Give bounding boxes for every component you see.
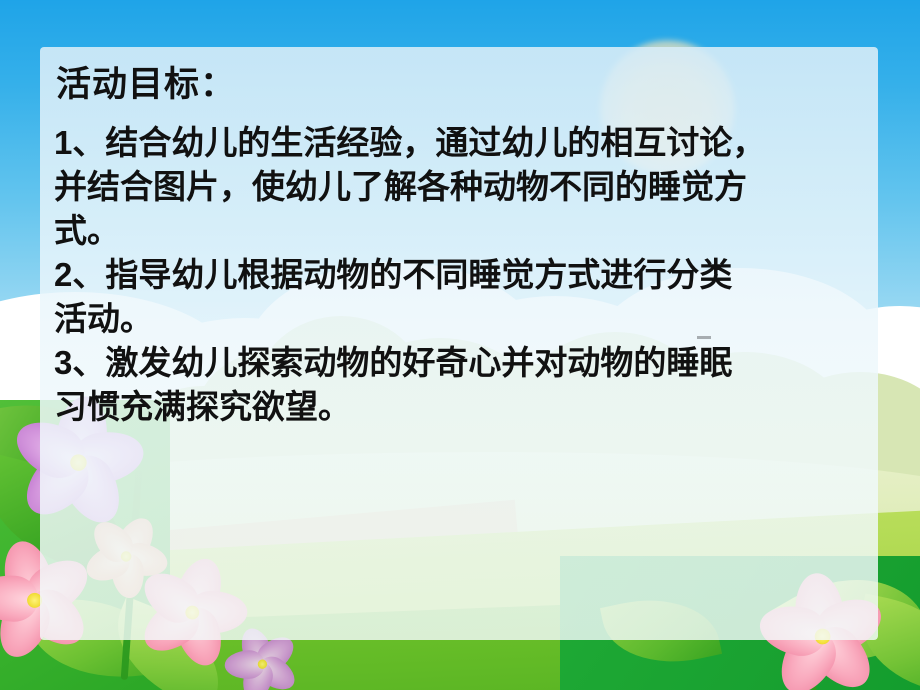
goal-line-2: 并结合图片，使幼儿了解各种动物不同的睡觉方 [52, 165, 852, 209]
goal-line-4: 2、指导幼儿根据动物的不同睡觉方式进行分类 [52, 253, 852, 297]
goal-line-1: 1、结合幼儿的生活经验，通过幼儿的相互讨论， [52, 121, 852, 165]
slide-canvas: 活动目标： 1、结合幼儿的生活经验，通过幼儿的相互讨论， 并结合图片，使幼儿了解… [0, 0, 920, 690]
content-panel: 活动目标： 1、结合幼儿的生活经验，通过幼儿的相互讨论， 并结合图片，使幼儿了解… [40, 47, 878, 640]
page-title: 活动目标： [52, 65, 852, 105]
content-panel-inner: 活动目标： 1、结合幼儿的生活经验，通过幼儿的相互讨论， 并结合图片，使幼儿了解… [40, 47, 878, 640]
goal-line-6: 3、激发幼儿探索动物的好奇心并对动物的睡眠 [52, 341, 852, 385]
goal-line-3: 式。 [52, 209, 852, 253]
goal-line-5: 活动。 [52, 297, 852, 341]
goal-line-7: 习惯充满探究欲望。 [52, 385, 852, 429]
dash-artifact [697, 336, 711, 339]
